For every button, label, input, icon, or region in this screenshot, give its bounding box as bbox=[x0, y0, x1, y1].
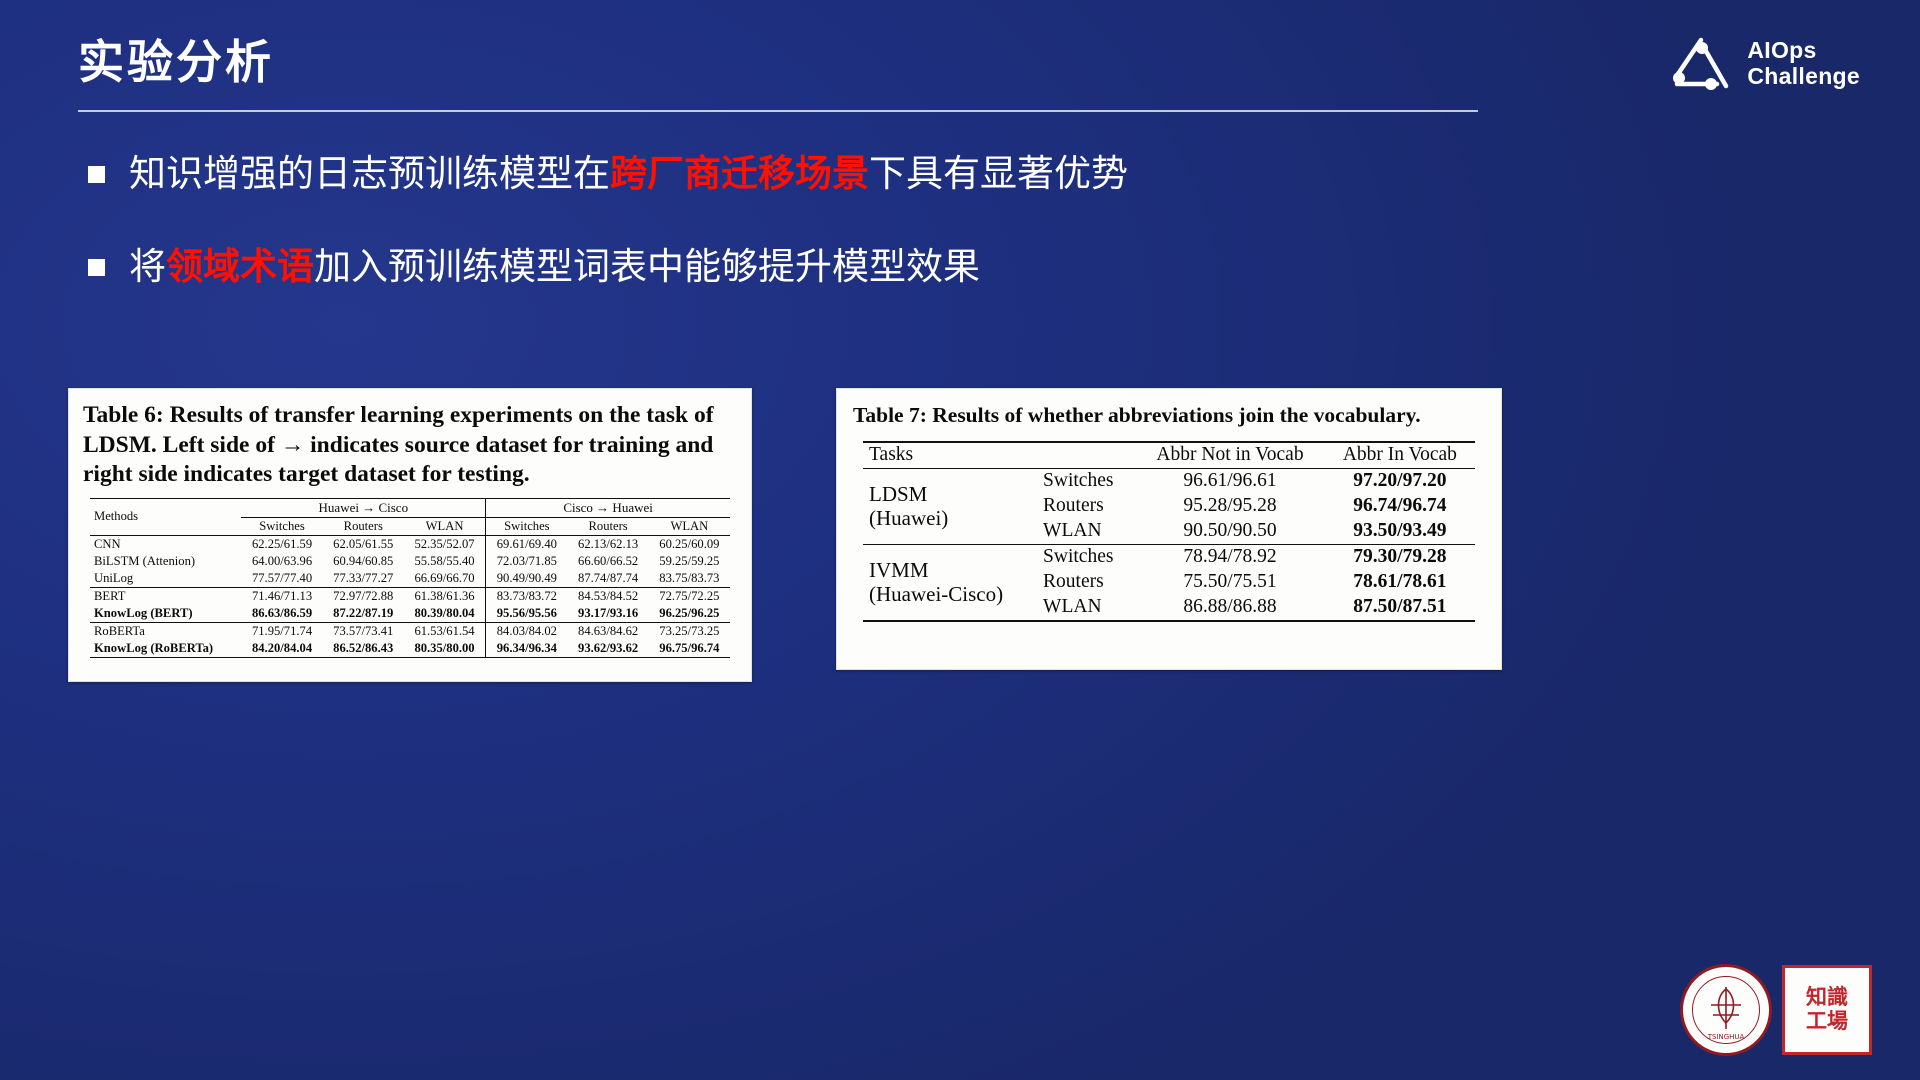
table-7-in-vocab: 87.50/87.51 bbox=[1325, 595, 1475, 621]
table-row: CNN62.25/61.5962.05/61.5552.35/52.0769.6… bbox=[90, 535, 730, 553]
table-row: UniLog77.57/77.4077.33/77.2766.69/66.709… bbox=[90, 570, 730, 588]
table-6-value: 64.00/63.96 bbox=[241, 553, 322, 570]
table-6-value: 61.38/61.36 bbox=[404, 587, 486, 605]
table-7-subset: Switches bbox=[1037, 544, 1135, 570]
table-7-not-in-vocab: 75.50/75.51 bbox=[1135, 570, 1325, 595]
table-7-not-in-vocab: 90.50/90.50 bbox=[1135, 519, 1325, 545]
table-rule-row bbox=[90, 657, 730, 658]
table-7-not-in-vocab: 78.94/78.92 bbox=[1135, 544, 1325, 570]
table-6-value: 66.60/66.52 bbox=[568, 553, 649, 570]
bullet-1-post: 下具有显著优势 bbox=[869, 152, 1128, 195]
table-7-not-in-vocab: 96.61/96.61 bbox=[1135, 468, 1325, 494]
logo-line-1: AIOps bbox=[1747, 38, 1860, 64]
table-7-task: LDSM(Huawei) bbox=[863, 468, 1037, 544]
table-6-value: 86.63/86.59 bbox=[241, 605, 322, 623]
logo-line-2: Challenge bbox=[1747, 64, 1860, 90]
aiops-challenge-logo: AIOps Challenge bbox=[1671, 28, 1860, 100]
table-6-method: RoBERTa bbox=[90, 622, 241, 640]
bullet-text-1: 知识增强的日志预训练模型在跨厂商迁移场景下具有显著优势 bbox=[129, 150, 1128, 197]
bullet-2-highlight: 领域术语 bbox=[166, 245, 314, 288]
slide-root: 实验分析 AIOps Challenge bbox=[0, 0, 1920, 1080]
table-6-value: 87.22/87.19 bbox=[323, 605, 404, 623]
table-6-value: 77.57/77.40 bbox=[241, 570, 322, 588]
table-6-value: 84.03/84.02 bbox=[486, 622, 568, 640]
table-6-value: 84.53/84.52 bbox=[568, 587, 649, 605]
table-6-method: UniLog bbox=[90, 570, 241, 588]
bullet-2-post: 加入预训练模型词表中能够提升模型效果 bbox=[314, 245, 980, 288]
table-row: IVMM(Huawei-Cisco)Switches78.94/78.9279.… bbox=[863, 544, 1475, 570]
table-6-value: 52.35/52.07 bbox=[404, 535, 486, 553]
table-6-caption: Table 6: Results of transfer learning ex… bbox=[69, 389, 751, 496]
table-6-value: 71.95/71.74 bbox=[241, 622, 322, 640]
title-divider bbox=[78, 110, 1478, 112]
table-6-method: KnowLog (BERT) bbox=[90, 605, 241, 623]
bullet-square-icon bbox=[88, 259, 105, 276]
table-6-subheader: WLAN bbox=[404, 517, 486, 535]
table-row: BiLSTM (Attenion)64.00/63.9660.94/60.855… bbox=[90, 553, 730, 570]
bullet-1-pre: 知识增强的日志预训练模型在 bbox=[129, 152, 610, 195]
table-6-value: 60.25/60.09 bbox=[649, 535, 730, 553]
svg-text:TSINGHUA: TSINGHUA bbox=[1707, 1033, 1745, 1041]
aiops-logo-text: AIOps Challenge bbox=[1747, 38, 1860, 90]
table-7-in-vocab: 93.50/93.49 bbox=[1325, 519, 1475, 545]
table-6-value: 71.46/71.13 bbox=[241, 587, 322, 605]
table-7-in-vocab: 79.30/79.28 bbox=[1325, 544, 1475, 570]
table-7-in-vocab: 97.20/97.20 bbox=[1325, 468, 1475, 494]
table-7-task: IVMM(Huawei-Cisco) bbox=[863, 544, 1037, 621]
bullet-item-2: 将领域术语加入预训练模型词表中能够提升模型效果 bbox=[88, 243, 1588, 290]
table-7-subset: Routers bbox=[1037, 494, 1135, 519]
table-6-value: 55.58/55.40 bbox=[404, 553, 486, 570]
table-6-value: 87.74/87.74 bbox=[568, 570, 649, 588]
bullet-list: 知识增强的日志预训练模型在跨厂商迁移场景下具有显著优势 将领域术语加入预训练模型… bbox=[88, 150, 1588, 337]
tsinghua-university-seal-icon: TSINGHUA bbox=[1680, 964, 1772, 1056]
table-6-value: 84.63/84.62 bbox=[568, 622, 649, 640]
footer-logos: TSINGHUA 知識 工場 bbox=[1680, 964, 1872, 1056]
table-6-value: 61.53/61.54 bbox=[404, 622, 486, 640]
table-6: MethodsHuawei → CiscoCisco → HuaweiSwitc… bbox=[90, 498, 730, 658]
table-6-value: 80.35/80.00 bbox=[404, 640, 486, 658]
table-7-caption: Table 7: Results of whether abbreviation… bbox=[837, 389, 1501, 437]
table-6-method: CNN bbox=[90, 535, 241, 553]
knowledge-works-logo: 知識 工場 bbox=[1782, 965, 1872, 1055]
table-6-methods-header: Methods bbox=[90, 498, 241, 535]
table-6-value: 72.75/72.25 bbox=[649, 587, 730, 605]
table-rule-row bbox=[863, 621, 1475, 622]
kw-line-1: 知識 bbox=[1806, 986, 1848, 1010]
table-6-value: 80.39/80.04 bbox=[404, 605, 486, 623]
table-7-not-in-vocab: 95.28/95.28 bbox=[1135, 494, 1325, 519]
table-6-value: 96.75/96.74 bbox=[649, 640, 730, 658]
table-6-value: 60.94/60.85 bbox=[323, 553, 404, 570]
table-6-subheader: Switches bbox=[241, 517, 322, 535]
table-7-in-vocab: 78.61/78.61 bbox=[1325, 570, 1475, 595]
table-7-in-vocab: 96.74/96.74 bbox=[1325, 494, 1475, 519]
table-7-not-in-vocab: 86.88/86.88 bbox=[1135, 595, 1325, 621]
table-row: LDSM(Huawei)Switches96.61/96.6197.20/97.… bbox=[863, 468, 1475, 494]
table-row: RoBERTa71.95/71.7473.57/73.4161.53/61.54… bbox=[90, 622, 730, 640]
table-7-header-tasks: Tasks bbox=[863, 442, 1135, 469]
table-6-method: BERT bbox=[90, 587, 241, 605]
table-6-value: 73.57/73.41 bbox=[323, 622, 404, 640]
table-6-method: KnowLog (RoBERTa) bbox=[90, 640, 241, 658]
table-6-value: 84.20/84.04 bbox=[241, 640, 322, 658]
table-row: TasksAbbr Not in VocabAbbr In Vocab bbox=[863, 442, 1475, 469]
table-6-subheader: WLAN bbox=[649, 517, 730, 535]
bullet-1-highlight: 跨厂商迁移场景 bbox=[610, 152, 869, 195]
kw-line-2: 工場 bbox=[1806, 1010, 1848, 1034]
table-6-value: 95.56/95.56 bbox=[486, 605, 568, 623]
bullet-item-1: 知识增强的日志预训练模型在跨厂商迁移场景下具有显著优势 bbox=[88, 150, 1588, 197]
table-6-value: 93.17/93.16 bbox=[568, 605, 649, 623]
table-6-value: 90.49/90.49 bbox=[486, 570, 568, 588]
table-6-value: 69.61/69.40 bbox=[486, 535, 568, 553]
table-row: KnowLog (BERT)86.63/86.5987.22/87.1980.3… bbox=[90, 605, 730, 623]
bullet-square-icon bbox=[88, 166, 105, 183]
table-6-value: 62.05/61.55 bbox=[323, 535, 404, 553]
table-7: TasksAbbr Not in VocabAbbr In VocabLDSM(… bbox=[863, 441, 1475, 622]
table-7-subset: Routers bbox=[1037, 570, 1135, 595]
aiops-triangle-mark bbox=[1671, 34, 1733, 94]
table-6-value: 96.25/96.25 bbox=[649, 605, 730, 623]
table-6-subheader: Routers bbox=[323, 517, 404, 535]
table-6-value: 86.52/86.43 bbox=[323, 640, 404, 658]
table-6-value: 83.75/83.73 bbox=[649, 570, 730, 588]
table-row: MethodsHuawei → CiscoCisco → Huawei bbox=[90, 498, 730, 517]
page-title: 实验分析 bbox=[78, 26, 274, 92]
table-6-value: 59.25/59.25 bbox=[649, 553, 730, 570]
table-7-subset: WLAN bbox=[1037, 595, 1135, 621]
bullet-text-2: 将领域术语加入预训练模型词表中能够提升模型效果 bbox=[129, 243, 980, 290]
table-6-card: Table 6: Results of transfer learning ex… bbox=[68, 388, 752, 682]
bullet-2-pre: 将 bbox=[129, 245, 166, 288]
table-6-value: 62.25/61.59 bbox=[241, 535, 322, 553]
table-7-subset: WLAN bbox=[1037, 519, 1135, 545]
table-row: KnowLog (RoBERTa)84.20/84.0486.52/86.438… bbox=[90, 640, 730, 658]
table-6-value: 93.62/93.62 bbox=[568, 640, 649, 658]
table-6-group-1: Huawei → Cisco bbox=[241, 498, 485, 517]
table-6-subheader: Routers bbox=[568, 517, 649, 535]
table-6-value: 96.34/96.34 bbox=[486, 640, 568, 658]
table-7-header-invocab: Abbr In Vocab bbox=[1325, 442, 1475, 469]
table-7-header-notvocab: Abbr Not in Vocab bbox=[1135, 442, 1325, 469]
table-6-value: 72.03/71.85 bbox=[486, 553, 568, 570]
table-6-group-2: Cisco → Huawei bbox=[486, 498, 730, 517]
table-6-method: BiLSTM (Attenion) bbox=[90, 553, 241, 570]
table-7-subset: Switches bbox=[1037, 468, 1135, 494]
table-7-card: Table 7: Results of whether abbreviation… bbox=[836, 388, 1502, 670]
table-6-value: 66.69/66.70 bbox=[404, 570, 486, 588]
table-6-value: 62.13/62.13 bbox=[568, 535, 649, 553]
table-6-value: 83.73/83.72 bbox=[486, 587, 568, 605]
table-6-value: 77.33/77.27 bbox=[323, 570, 404, 588]
table-6-value: 72.97/72.88 bbox=[323, 587, 404, 605]
table-6-subheader: Switches bbox=[486, 517, 568, 535]
table-row: BERT71.46/71.1372.97/72.8861.38/61.3683.… bbox=[90, 587, 730, 605]
table-6-value: 73.25/73.25 bbox=[649, 622, 730, 640]
